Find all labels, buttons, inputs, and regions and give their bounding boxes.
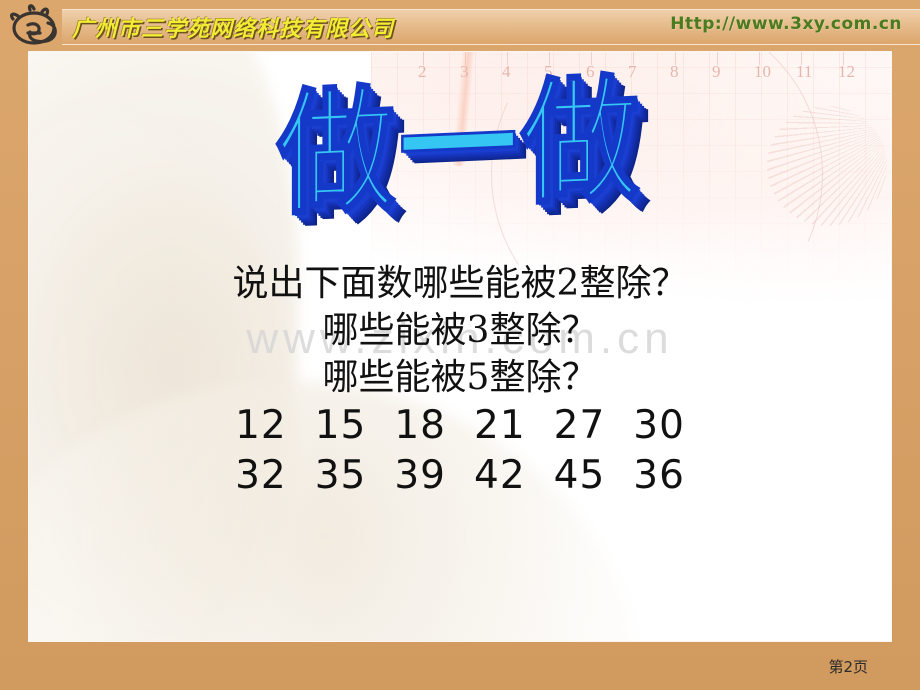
ruler-number: 2	[418, 62, 427, 82]
ruler-number: 8	[670, 62, 679, 82]
ruler-number: 5	[544, 62, 553, 82]
page-title: 做一做	[277, 72, 643, 223]
ruler-number: 3	[460, 62, 469, 82]
ruler-tick	[759, 52, 760, 65]
company-name-label: 广州市三学苑网络科技有限公司	[72, 11, 394, 43]
number-cell: 35	[315, 451, 367, 501]
question-line-1: 说出下面数哪些能被2整除？	[29, 260, 891, 307]
ruler-number-labels: 23456789101112	[371, 62, 891, 88]
company-logo-icon	[6, 3, 68, 49]
presentation-slide: 23456789101112 做一做 www.zixin.com.cn 说出下面…	[0, 0, 920, 690]
ruler-tick	[717, 52, 718, 65]
protractor-icon	[767, 106, 887, 226]
number-cell: 18	[394, 401, 446, 451]
number-cell: 15	[315, 401, 367, 451]
site-url-label: Http://www.3xy.com.cn	[670, 14, 902, 34]
slide-body-content: 说出下面数哪些能被2整除？ 哪些能被3整除？ 哪些能被5整除？ 12151821…	[29, 260, 891, 501]
number-cell: 32	[235, 451, 287, 501]
ruler-number: 9	[712, 62, 721, 82]
number-cell: 21	[474, 401, 526, 451]
ruler-tick	[507, 52, 508, 65]
header-banner: 广州市三学苑网络科技有限公司 Http://www.3xy.com.cn	[0, 0, 920, 52]
number-cell: 12	[235, 401, 287, 451]
ruler-tick	[801, 52, 802, 65]
ruler-number: 11	[796, 62, 812, 82]
ruler-tick-marks	[371, 52, 891, 86]
ruler-number: 6	[586, 62, 595, 82]
ruler-tick	[633, 52, 634, 65]
number-cell: 27	[554, 401, 606, 451]
number-cell: 42	[474, 451, 526, 501]
page-number-label: 第2页	[828, 656, 868, 677]
ruler-tick	[591, 52, 592, 65]
slide-canvas: 23456789101112 做一做 www.zixin.com.cn 说出下面…	[29, 52, 891, 641]
ruler-tick	[675, 52, 676, 65]
ruler-number: 10	[754, 62, 771, 82]
ruler-number: 12	[838, 62, 855, 82]
number-row-1: 121518212730	[29, 401, 891, 451]
number-cell: 36	[633, 451, 685, 501]
question-line-3: 哪些能被5整除？	[29, 354, 891, 401]
number-cell: 45	[554, 451, 606, 501]
ruler-number: 7	[628, 62, 637, 82]
ruler-tick	[843, 52, 844, 65]
number-cell: 39	[394, 451, 446, 501]
ruler-tick	[465, 52, 466, 65]
ruler-tick	[423, 52, 424, 65]
ruler-tick	[549, 52, 550, 65]
number-cell: 30	[633, 401, 685, 451]
ruler-number: 4	[502, 62, 511, 82]
question-line-2: 哪些能被3整除？	[29, 307, 891, 354]
number-row-2: 323539424536	[29, 451, 891, 501]
pencil-icon	[452, 52, 475, 166]
